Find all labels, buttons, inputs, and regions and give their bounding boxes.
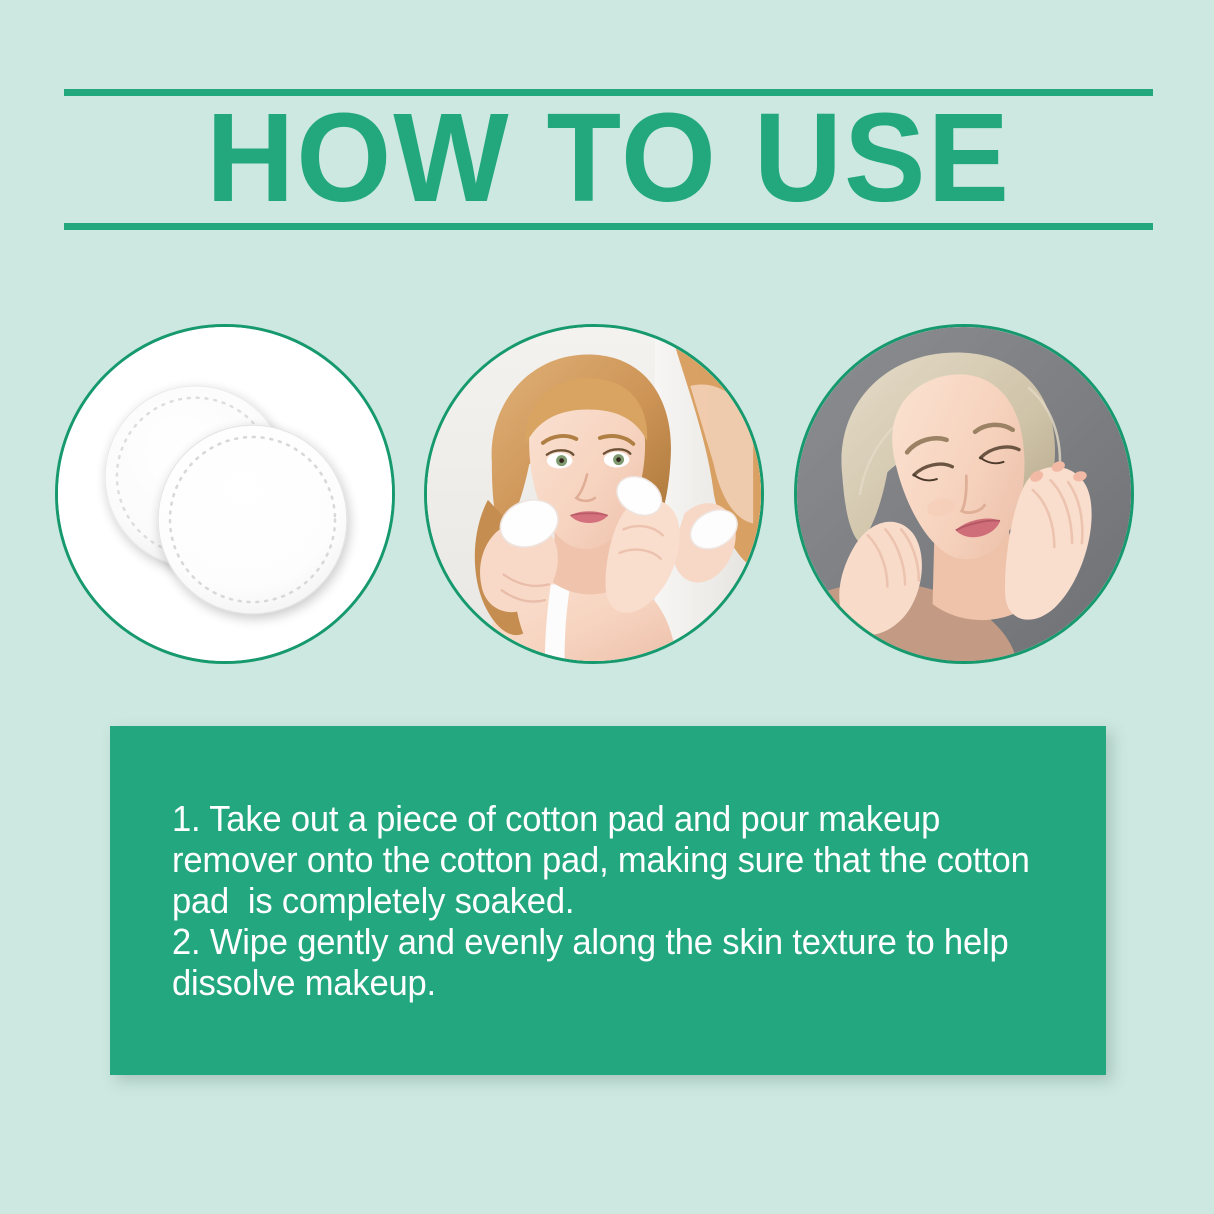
step-image-wiping-face (424, 324, 764, 664)
instructions-text: 1. Take out a piece of cotton pad and po… (172, 798, 1036, 1003)
step-image-touching-face (794, 324, 1134, 664)
how-to-use-poster: HOW TO USE (0, 0, 1214, 1214)
steps-gallery (0, 324, 1214, 672)
instructions-panel: 1. Take out a piece of cotton pad and po… (110, 726, 1106, 1075)
step-image-cotton-pads (55, 324, 395, 664)
header-rule-bottom (64, 223, 1153, 230)
page-title: HOW TO USE (80, 96, 1136, 220)
woman-wiping-face-illustration (427, 327, 761, 661)
woman-touching-face-illustration (797, 327, 1131, 661)
cotton-pads-illustration (58, 327, 392, 661)
